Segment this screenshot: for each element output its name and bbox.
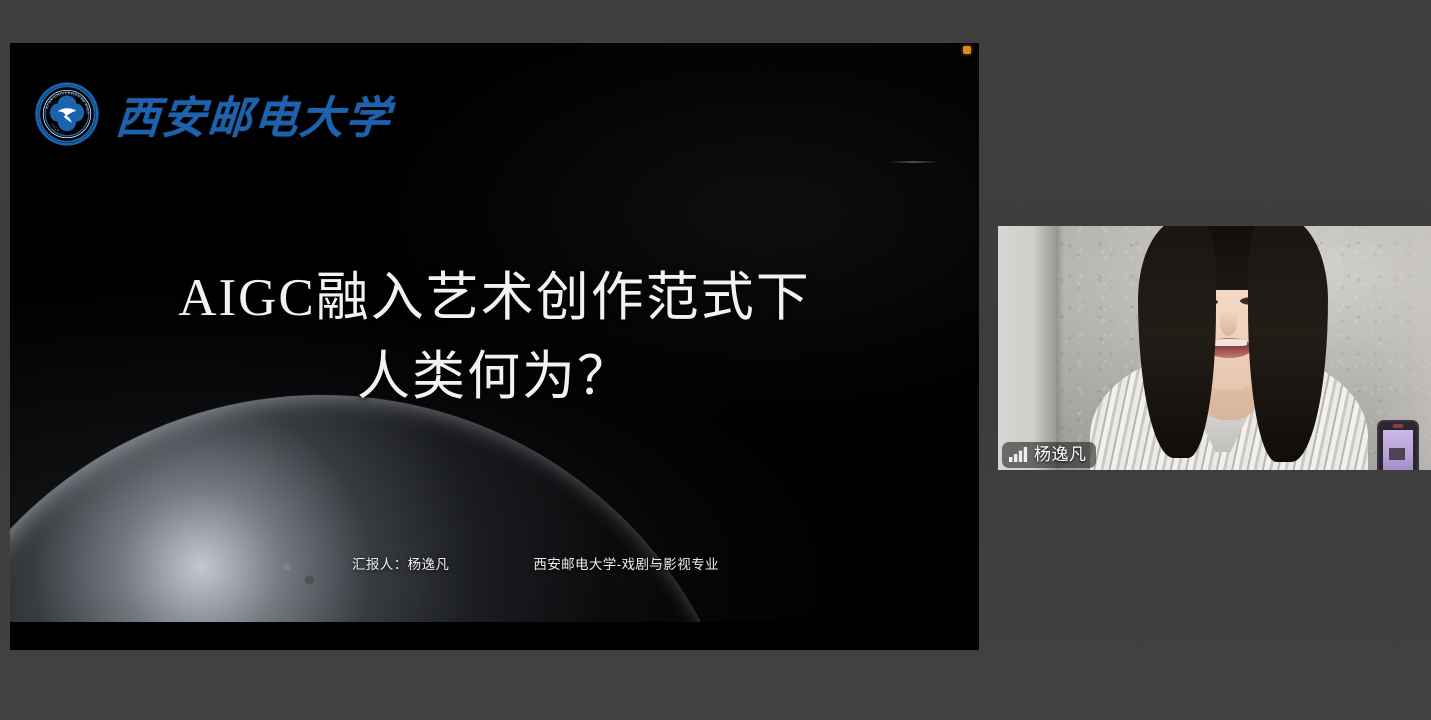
participant-video-tile[interactable]: 杨逸凡 [998,226,1431,470]
meeting-stage: XI'AN UNIVERSITY OF POSTS 1950 西安邮电大学 AI… [0,0,1431,720]
slide-letterbox [10,622,979,650]
university-emblem-icon: XI'AN UNIVERSITY OF POSTS 1950 [34,81,100,147]
brand-lockup: XI'AN UNIVERSITY OF POSTS 1950 西安邮电大学 [34,81,392,147]
signal-strength-icon [1009,447,1028,462]
slide-title-line-1: AIGC融入艺术创作范式下 [10,259,979,338]
participant-name-label: 杨逸凡 [1034,445,1087,464]
phone-on-desk [1377,420,1419,470]
slide-title: AIGC融入艺术创作范式下 人类何为？ [10,259,979,417]
participant-figure [998,226,1431,470]
light-streak [890,161,938,163]
participant-name-badge: 杨逸凡 [1002,442,1096,468]
sharing-indicator-dot [963,46,971,54]
slide-title-line-2: 人类何为？ [10,338,979,417]
slide-affiliation: 西安邮电大学-戏剧与影视专业 [533,553,719,573]
nose [1220,310,1237,336]
phone-notch [1393,424,1404,428]
slide-presenter: 汇报人：杨逸凡 [352,553,449,573]
university-name: 西安邮电大学 [114,82,394,146]
phone-screen [1383,430,1413,470]
slide-byline: 汇报人：杨逸凡 西安邮电大学-戏剧与影视专业 [352,553,719,573]
teeth [1211,339,1247,346]
shared-screen-slide[interactable]: XI'AN UNIVERSITY OF POSTS 1950 西安邮电大学 AI… [10,43,979,650]
